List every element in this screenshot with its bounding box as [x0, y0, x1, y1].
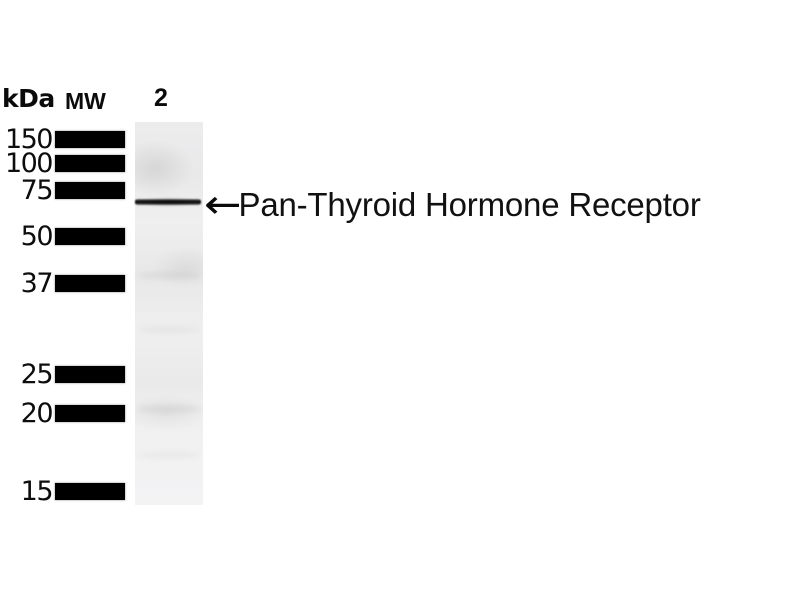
mw-marker-band	[55, 366, 125, 383]
mw-marker-label: 100	[0, 151, 52, 177]
mw-marker-label: 25	[0, 362, 52, 388]
lane-2-header-label: 2	[154, 86, 168, 111]
mw-marker-100: 100	[0, 151, 128, 177]
mw-marker-label: 37	[0, 271, 52, 297]
mw-marker-band	[55, 275, 125, 292]
mw-marker-label: 50	[0, 224, 52, 250]
mw-marker-37: 37	[0, 271, 128, 297]
mw-marker-label: 20	[0, 401, 52, 427]
lane-background-smudge	[137, 405, 201, 413]
mw-marker-25: 25	[0, 362, 128, 388]
mw-marker-15: 15	[0, 479, 128, 505]
mw-marker-50: 50	[0, 224, 128, 250]
mw-marker-label: 15	[0, 479, 52, 505]
mw-marker-band	[55, 405, 125, 422]
target-protein-band	[133, 196, 203, 208]
mw-ladder: 150 100 75 50 37 25 20 15	[0, 0, 130, 600]
mw-marker-band	[55, 228, 125, 245]
mw-marker-band	[55, 155, 125, 172]
mw-marker-band	[55, 483, 125, 500]
mw-marker-band	[55, 182, 125, 199]
sample-lane-2	[135, 122, 203, 505]
western-blot-figure: kDa MW 2 150 100 75 50 37 25 20	[0, 0, 800, 600]
mw-marker-75: 75	[0, 178, 128, 204]
protein-name-label: Pan-Thyroid Hormone Receptor	[239, 187, 701, 223]
lane-background-smudge	[137, 452, 201, 458]
mw-marker-band	[55, 131, 125, 148]
band-annotation: ← Pan-Thyroid Hormone Receptor	[204, 182, 701, 228]
lane-background-smudge	[137, 327, 201, 333]
left-arrow-icon: ←	[204, 185, 242, 225]
mw-marker-20: 20	[0, 401, 128, 427]
mw-marker-label: 75	[0, 178, 52, 204]
lane-background-smudge	[137, 272, 201, 279]
